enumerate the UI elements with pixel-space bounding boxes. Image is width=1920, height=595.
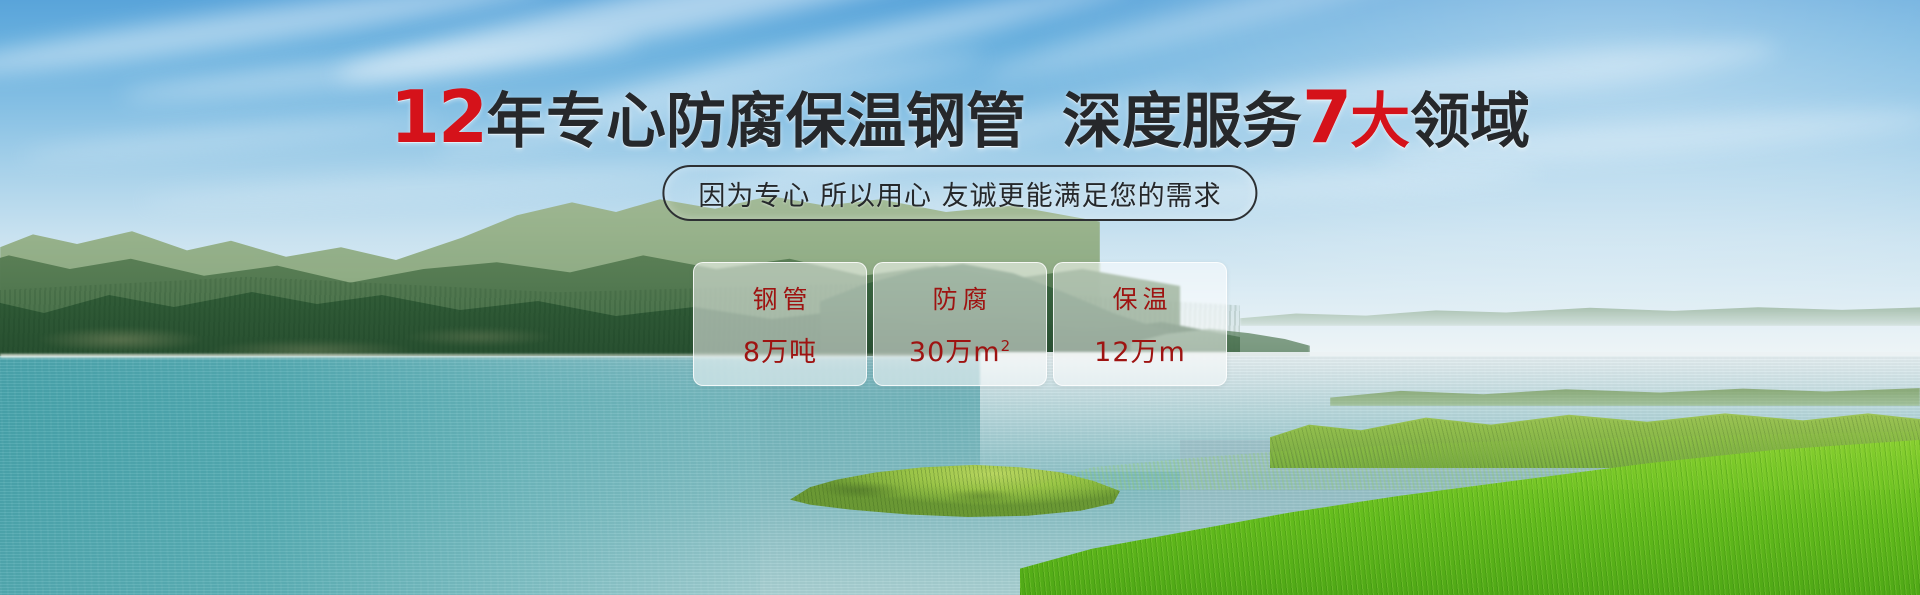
headline: 12年专心防腐保温钢管深度服务7大领域 bbox=[0, 84, 1920, 155]
stat-card-value: 12万m bbox=[1094, 330, 1186, 369]
stat-card-title: 防腐 bbox=[927, 280, 992, 316]
stat-card-title: 保温 bbox=[1107, 280, 1172, 316]
stat-card-value-text: 30万m bbox=[909, 337, 1001, 368]
stat-card-value-superscript: 2 bbox=[1001, 337, 1012, 355]
headline-fields-number: 7 bbox=[1302, 75, 1350, 159]
subtitle-text: 因为专心 所以用心 友诚更能满足您的需求 bbox=[698, 174, 1221, 213]
stat-card-title: 钢管 bbox=[747, 280, 812, 316]
stat-card-list: 钢管 8万吨 防腐 30万m2 保温 12万m bbox=[693, 262, 1227, 386]
stat-card-value-text: 12万m bbox=[1094, 337, 1186, 368]
headline-part-three: 领域 bbox=[1410, 87, 1530, 157]
stat-card-steel-pipe: 钢管 8万吨 bbox=[693, 262, 867, 386]
headline-part-one: 年专心防腐保温钢管 bbox=[486, 87, 1026, 157]
stat-card-anticorrosion: 防腐 30万m2 bbox=[873, 262, 1047, 386]
stat-card-value: 30万m2 bbox=[909, 330, 1011, 369]
stat-card-insulation: 保温 12万m bbox=[1053, 262, 1227, 386]
stat-card-value: 8万吨 bbox=[743, 330, 817, 369]
headline-part-two: 深度服务 bbox=[1062, 87, 1302, 157]
headline-years-number: 12 bbox=[390, 75, 486, 159]
stat-card-value-text: 8万吨 bbox=[743, 337, 817, 368]
hero-banner: 12年专心防腐保温钢管深度服务7大领域 因为专心 所以用心 友诚更能满足您的需求… bbox=[0, 0, 1920, 595]
subtitle-pill: 因为专心 所以用心 友诚更能满足您的需求 bbox=[662, 165, 1257, 221]
headline-fields-suffix: 大 bbox=[1350, 87, 1410, 157]
